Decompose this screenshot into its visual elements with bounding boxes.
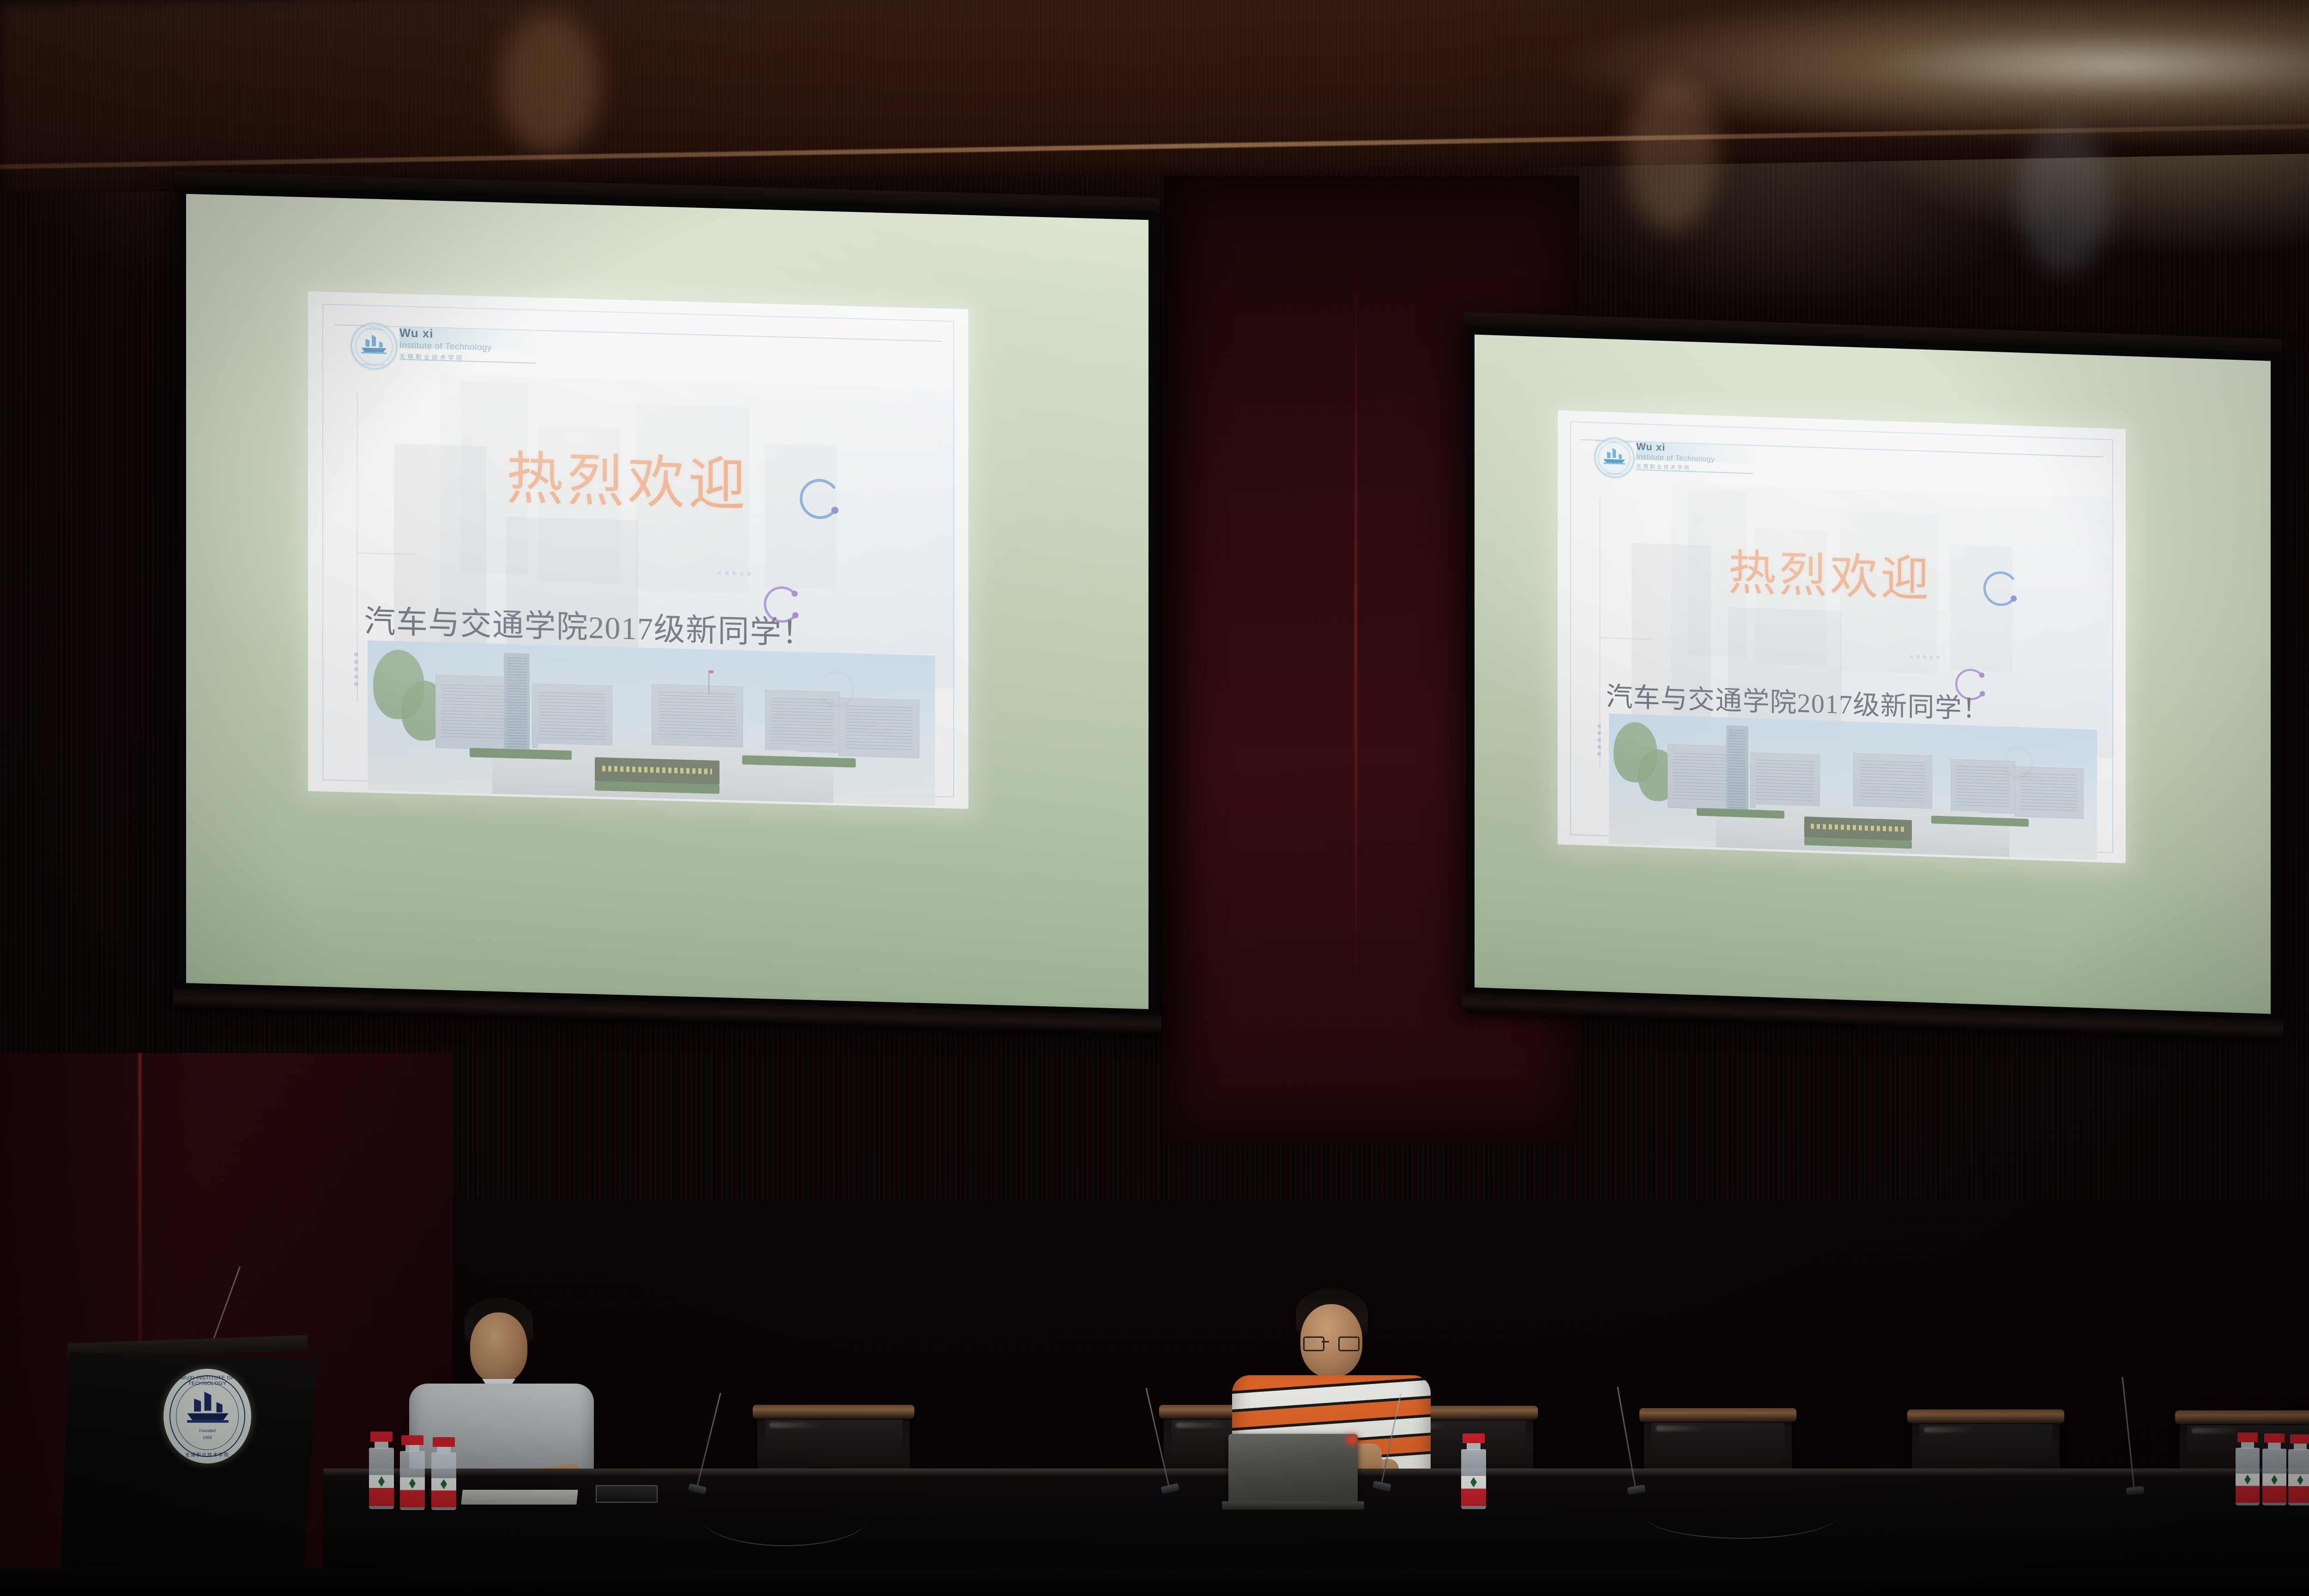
podium-seal-founded: Founded (163, 1428, 251, 1433)
slide-logo: WUXI INSTITUTE OF TECHNOLOGY 无锡职业技术学院 Wu… (351, 322, 536, 374)
name-plate[interactable] (596, 1485, 658, 1503)
sailing-junk-ship-icon (1601, 447, 1628, 468)
right-slide: WUXI INSTITUTE OF TECHNOLOGY 无锡职业技术学院 Wu… (1558, 410, 2126, 863)
sailing-junk-ship-icon (182, 1390, 234, 1428)
water-bottle[interactable] (398, 1435, 427, 1510)
water-bottle[interactable] (2287, 1434, 2309, 1505)
water-bottle[interactable] (367, 1432, 396, 1509)
institute-seal-icon: WUXI INSTITUTE OF TECHNOLOGY 无锡职业技术学院 (1595, 437, 1634, 478)
water-bottle[interactable] (2261, 1433, 2288, 1505)
left-slide: WUXI INSTITUTE OF TECHNOLOGY 无锡职业技术学院 Wu… (308, 291, 968, 809)
slide-campus-photo (1609, 713, 2097, 860)
slide-logo: WUXI INSTITUTE OF TECHNOLOGY 无锡职业技术学院 Wu… (1595, 437, 1753, 482)
auditorium-scene: WUXI INSTITUTE OF TECHNOLOGY 无锡职业技术学院 Wu… (0, 0, 2309, 1596)
seal-english-text: WUXI INSTITUTE OF TECHNOLOGY (352, 325, 396, 332)
panel-seam (1355, 253, 1357, 1010)
head (470, 1312, 527, 1383)
podium-seal-year: 1959 (163, 1435, 251, 1440)
seal-chinese-text: 无锡职业技术学院 (1596, 472, 1633, 476)
microphone-cable (702, 1490, 868, 1546)
logo-english-primary: Wu xi (399, 326, 536, 342)
slide-headline-subtext: 无 锡 职 业 技 (718, 570, 752, 577)
lectern-podium[interactable]: WUXI INSTITUTE OF TECHNOLOGY Founded 195… (51, 1339, 323, 1596)
podium-seal-english: WUXI INSTITUTE OF TECHNOLOGY (163, 1375, 251, 1386)
left-projection-screen[interactable]: WUXI INSTITUTE OF TECHNOLOGY 无锡职业技术学院 Wu… (178, 185, 1157, 1017)
campus-entrance-monument (1804, 816, 1912, 841)
slide-headline: 热烈欢迎 (506, 432, 749, 521)
slide-campus-photo (368, 640, 936, 805)
sailing-junk-ship-icon (358, 333, 390, 357)
podium-seal-chinese: 无锡职业技术学院 (163, 1451, 251, 1458)
decor-arc-blue (793, 474, 844, 526)
slide-headline: 热烈欢迎 (1728, 533, 1932, 610)
open-laptop[interactable] (1228, 1434, 1358, 1503)
stage-floor (0, 1568, 2309, 1596)
slide-dot-column (1597, 724, 1601, 756)
slide-dot-column (354, 653, 358, 686)
water-bottle[interactable] (429, 1437, 458, 1510)
seal-chinese-text: 无锡职业技术学院 (352, 363, 396, 368)
campus-entrance-monument (595, 757, 720, 785)
institute-seal-icon: WUXI INSTITUTE OF TECHNOLOGY 无锡职业技术学院 (351, 322, 397, 370)
water-bottle[interactable] (2234, 1433, 2261, 1505)
decor-arc-blue (1978, 568, 2022, 613)
microphone-cable (1644, 1492, 1838, 1539)
papers-stack[interactable] (461, 1490, 578, 1505)
microphone-indicator-led (1349, 1437, 1354, 1443)
water-bottle[interactable] (1459, 1433, 1488, 1509)
slide-headline-subtext: 无 锡 职 业 技 (1910, 654, 1941, 660)
podium-institute-seal: WUXI INSTITUTE OF TECHNOLOGY Founded 195… (163, 1369, 251, 1463)
eyeglasses-icon (1303, 1336, 1360, 1349)
right-projection-screen[interactable]: WUXI INSTITUTE OF TECHNOLOGY 无锡职业技术学院 Wu… (1466, 326, 2279, 1022)
